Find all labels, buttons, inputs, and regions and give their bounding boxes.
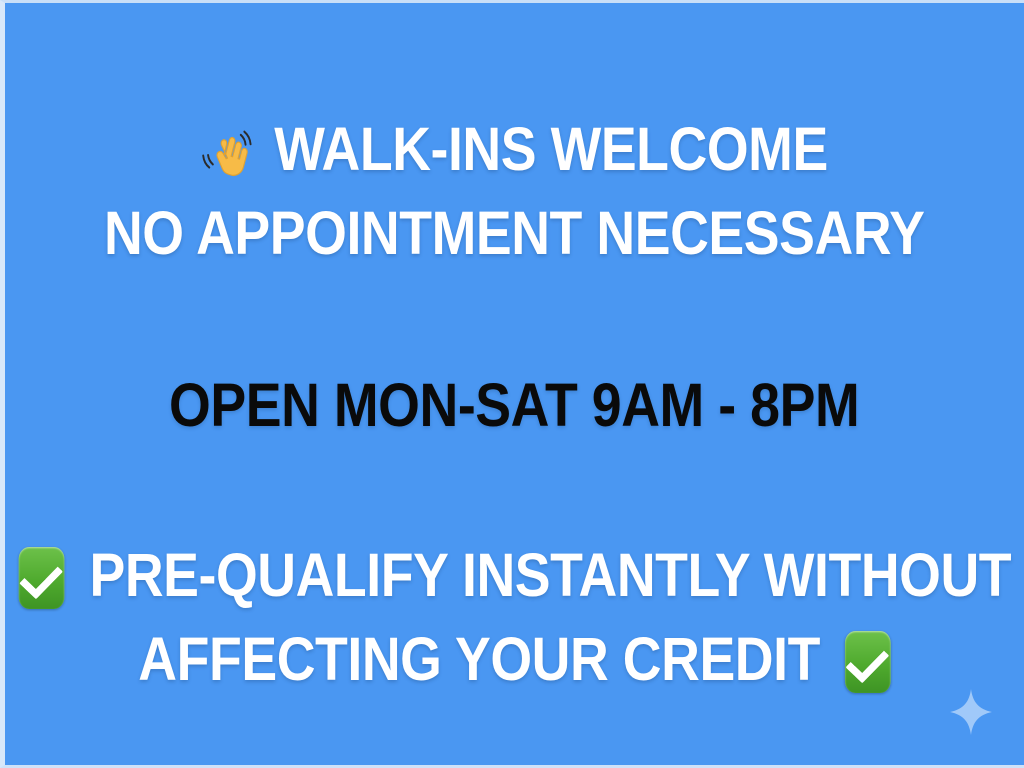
prequalify-line-1-text: PRE-QUALIFY INSTANTLY WITHOUT	[89, 541, 1011, 609]
message-stack: WALK-INS WELCOME NO APPOINTMENT NECESSAR…	[5, 3, 1024, 765]
waving-hand-icon	[201, 119, 252, 177]
walkins-line-2-text: NO APPOINTMENT NECESSARY	[104, 199, 925, 267]
hours-line-1-text: OPEN MON-SAT 9AM - 8PM	[169, 371, 859, 439]
prequalify-line-2-text: AFFECTING YOUR CREDIT	[138, 625, 820, 693]
walkins-block: WALK-INS WELCOME NO APPOINTMENT NECESSAR…	[5, 107, 1024, 275]
sparkle-ai-watermark-icon	[950, 689, 992, 735]
hours-block: OPEN MON-SAT 9AM - 8PM	[5, 363, 1024, 447]
prequalify-block: PRE-QUALIFY INSTANTLY WITHOUT AFFECTING …	[5, 533, 1024, 701]
white-check-mark-icon	[845, 631, 891, 693]
walkins-line-2: NO APPOINTMENT NECESSARY	[104, 191, 925, 275]
promo-graphic-canvas: WALK-INS WELCOME NO APPOINTMENT NECESSAR…	[0, 0, 1024, 768]
prequalify-line-2: AFFECTING YOUR CREDIT	[138, 617, 890, 701]
walkins-line-1-text: WALK-INS WELCOME	[274, 115, 828, 183]
prequalify-line-1: PRE-QUALIFY INSTANTLY WITHOUT	[18, 533, 1010, 617]
white-check-mark-icon	[18, 547, 64, 609]
hours-line-1: OPEN MON-SAT 9AM - 8PM	[169, 363, 859, 447]
walkins-line-1: WALK-INS WELCOME	[201, 107, 827, 191]
